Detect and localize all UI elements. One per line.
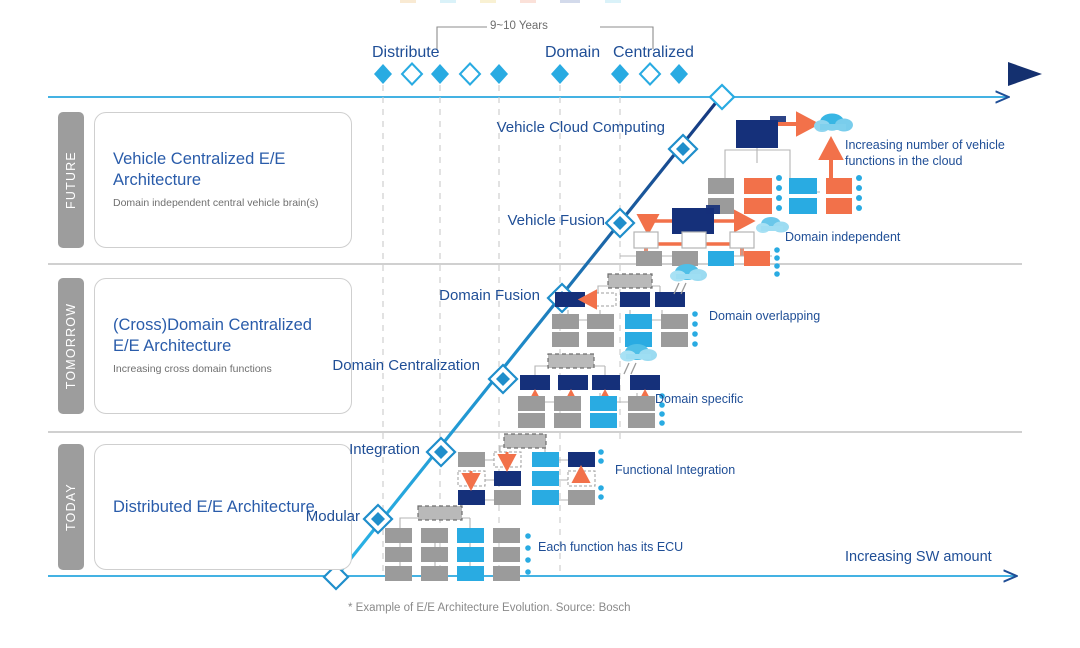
stage-label-vehicle-fusion: Vehicle Fusion: [425, 212, 605, 230]
timeline-label-domain: Domain: [545, 44, 600, 62]
timeline-label-centralized: Centralized: [613, 44, 694, 62]
cluster-modular: [385, 506, 531, 581]
top-timeline-arrow: [48, 62, 1042, 86]
era-card-title: Vehicle Centralized E/E Architecture: [113, 149, 333, 190]
era-tab-label: FUTURE: [64, 151, 78, 209]
era-tab-today: TODAY: [58, 444, 84, 570]
era-tab-tomorrow: TOMORROW: [58, 278, 84, 414]
timeline-label-distribute: Distribute: [372, 44, 440, 62]
caption-modular: Each function has its ECU: [538, 539, 758, 555]
era-tab-label: TODAY: [64, 483, 78, 531]
diagram-root: FUTURE TOMORROW TODAY Vehicle Centralize…: [0, 0, 1080, 648]
stage-label-integration: Integration: [240, 441, 420, 459]
stage-label-modular: Modular: [180, 508, 360, 526]
cluster-vehicle-cloud-computing: [708, 114, 862, 215]
stage-label-vehicle-cloud-computing: Vehicle Cloud Computing: [485, 119, 665, 137]
era-card-subtitle: Domain independent central vehicle brain…: [113, 197, 333, 210]
clipped-title-artifacts: [400, 0, 621, 3]
era-card-title: (Cross)Domain Centralized E/E Architectu…: [113, 315, 333, 356]
era-tab-future: FUTURE: [58, 112, 84, 248]
stage-label-domain-fusion: Domain Fusion: [360, 287, 540, 305]
era-card-today[interactable]: Distributed E/E Architecture: [94, 444, 352, 570]
cloud-icon: [814, 114, 853, 133]
cluster-domain-centralization: [518, 344, 665, 428]
caption-vehicle-fusion: Domain independent: [785, 229, 985, 245]
cloud-icon: [670, 264, 707, 282]
source-footnote: * Example of E/E Architecture Evolution.…: [348, 602, 631, 614]
bottom-axis-label: Increasing SW amount: [845, 549, 992, 565]
caption-domain-centralization: Domain specific: [655, 391, 855, 407]
caption-domain-fusion: Domain overlapping: [709, 308, 909, 324]
cluster-integration: [458, 434, 604, 505]
stage-label-domain-centralization: Domain Centralization: [300, 357, 480, 375]
era-tab-label: TOMORROW: [64, 303, 78, 389]
era-card-future[interactable]: Vehicle Centralized E/E Architecture Dom…: [94, 112, 352, 248]
caption-vehicle-cloud-computing: Increasing number of vehicle functions i…: [845, 137, 1045, 170]
years-bracket-label: 9~10 Years: [490, 20, 548, 32]
era-card-tomorrow[interactable]: (Cross)Domain Centralized E/E Architectu…: [94, 278, 352, 414]
cluster-vehicle-fusion: [620, 205, 789, 277]
caption-integration: Functional Integration: [615, 462, 835, 478]
